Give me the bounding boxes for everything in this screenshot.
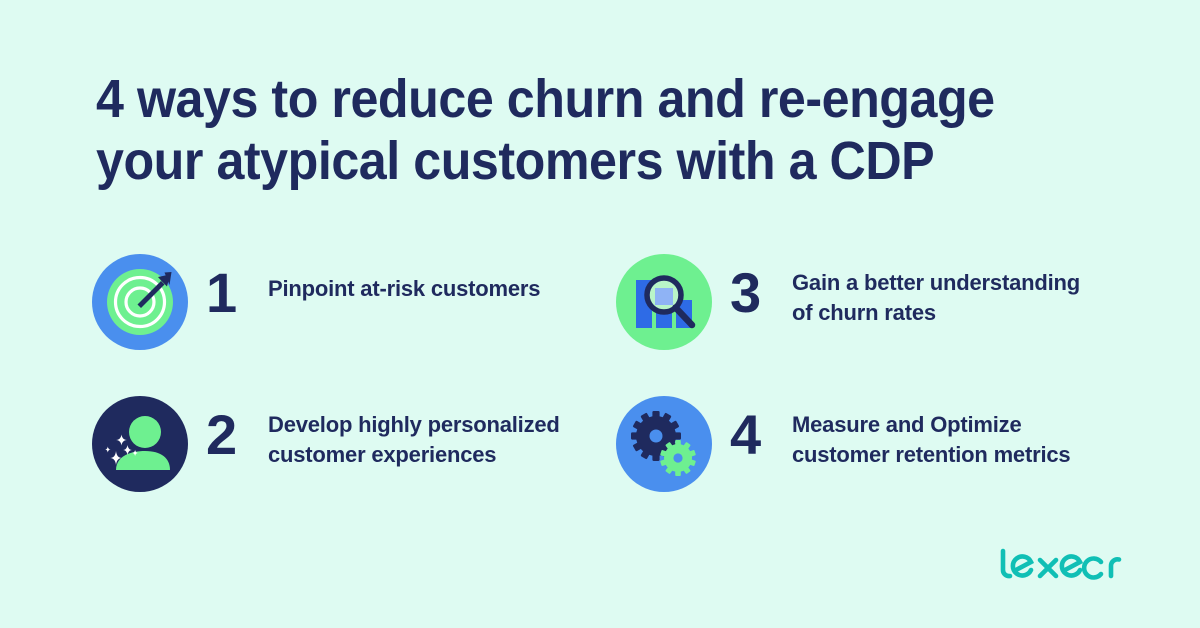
list-item: 2 Develop highly personalized customer e… (92, 394, 592, 492)
item-label: Measure and Optimize customer retention … (792, 410, 1102, 470)
list-item: 3 Gain a better understanding of churn r… (616, 252, 1116, 350)
page-title-line-2: your atypical customers with a CDP (96, 130, 1063, 192)
items-grid: 1 Pinpoint at-risk customers (92, 252, 1132, 522)
item-number: 3 (712, 264, 792, 322)
item-label: Pinpoint at-risk customers (268, 274, 578, 304)
bar-chart-magnifier-icon (616, 254, 712, 350)
person-sparkle-icon (92, 396, 188, 492)
item-label: Gain a better understanding of churn rat… (792, 268, 1102, 328)
item-number: 2 (188, 406, 268, 464)
list-item: 4 Measure and Optimize customer retentio… (616, 394, 1116, 492)
target-dart-icon (92, 254, 188, 350)
item-number: 4 (712, 406, 792, 464)
page-title-line-1: 4 ways to reduce churn and re-engage (96, 68, 1063, 130)
item-label: Develop highly personalized customer exp… (268, 410, 578, 470)
lexer-logo: Lexer (998, 546, 1134, 586)
page-title: 4 ways to reduce churn and re-engage you… (96, 68, 1136, 192)
infographic-canvas: 4 ways to reduce churn and re-engage you… (0, 0, 1200, 628)
item-number: 1 (188, 264, 268, 322)
gears-icon (616, 396, 712, 492)
list-item: 1 Pinpoint at-risk customers (92, 252, 592, 350)
